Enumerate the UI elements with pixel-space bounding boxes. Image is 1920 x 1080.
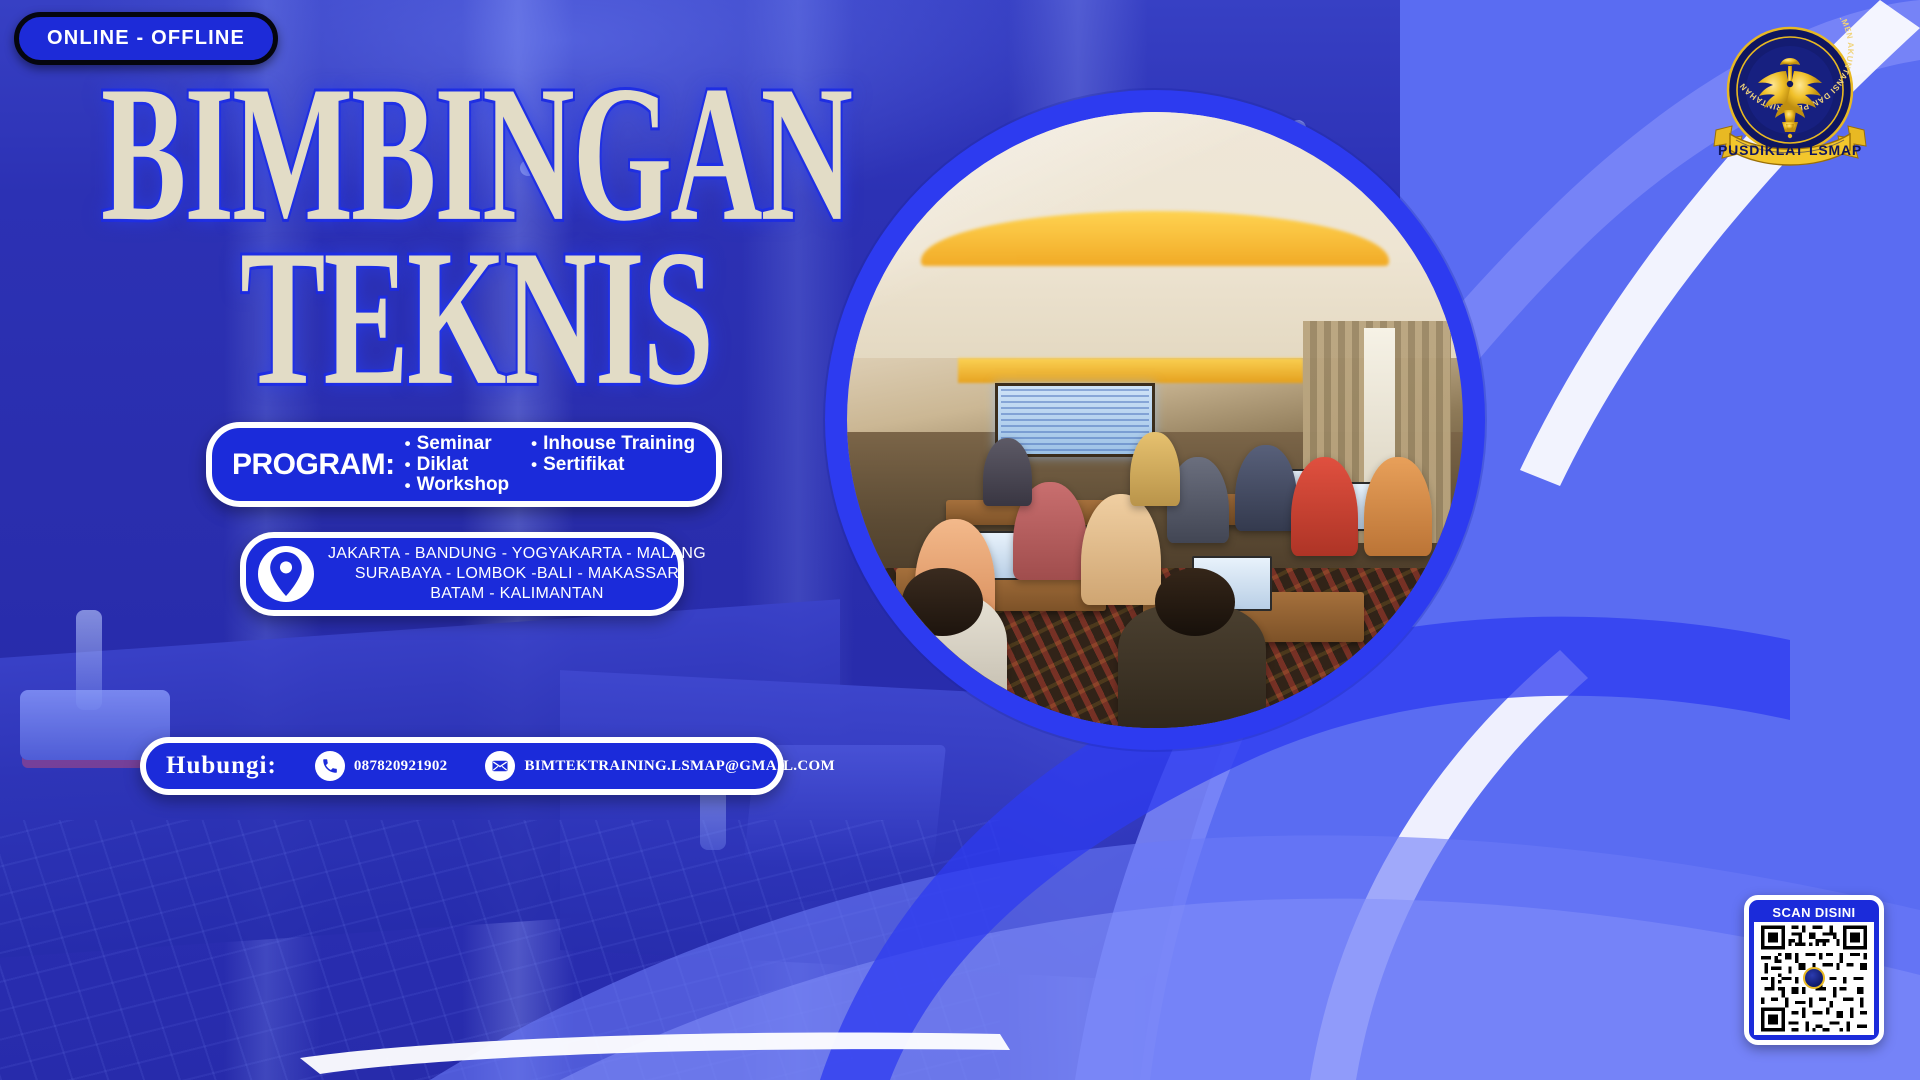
contact-email[interactable]: BIMTEKTRAINING.LSMAP@GMAIL.COM [485,751,834,781]
lsmap-logo: LEMBAGA STUDI MANAJEMEN AKUNTANSI DAN PE… [1700,18,1880,178]
bullet-icon: • [531,456,537,473]
photo-attendee-head [902,568,982,636]
qr-code-image [1754,922,1874,1035]
program-item: • Sertifikat [531,455,695,475]
location-line: SURABAYA - LOMBOK -BALI - MAKASSAR [328,564,706,584]
phone-number: 087820921902 [354,758,448,775]
seminar-room-photo [847,112,1463,728]
title-line-2: TEKNIS [96,240,856,396]
location-line: BATAM - KALIMANTAN [328,584,706,604]
qr-center-logo-badge [1803,967,1825,989]
contact-label: Hubungi: [166,752,277,780]
program-item-label: Inhouse Training [543,434,695,454]
program-item-label: Diklat [417,455,469,475]
program-label: PROGRAM: [232,448,395,482]
bullet-icon: • [531,435,537,452]
envelope-icon [485,751,515,781]
logo-ribbon-text: PUSDIKLAT LSMAP [1718,142,1862,158]
program-item: • Inhouse Training [531,434,695,454]
location-box: JAKARTA - BANDUNG - YOGYAKARTA - MALANG … [240,532,684,616]
circle-photo-frame [825,90,1485,750]
email-address: BIMTEKTRAINING.LSMAP@GMAIL.COM [524,758,834,775]
program-box: PROGRAM: • Seminar • Diklat • Workshop • [206,422,722,507]
phone-icon [315,751,345,781]
program-column-1: • Seminar • Diklat • Workshop [405,434,510,496]
location-line: JAKARTA - BANDUNG - YOGYAKARTA - MALANG [328,544,706,564]
logo-star-icon [1788,134,1792,138]
qr-code-card[interactable]: SCAN DISINI [1744,895,1884,1045]
bullet-icon: • [405,477,411,494]
program-column-2: • Inhouse Training • Sertifikat [531,434,695,496]
photo-attendee [1130,432,1179,506]
title-line-1: BIMBINGAN [96,76,856,232]
program-item: • Seminar [405,434,510,454]
photo-cove-lighting [958,358,1303,383]
photo-attendee-head [1155,568,1235,636]
program-item-label: Sertifikat [543,455,624,475]
contact-box: Hubungi: 087820921902 BIMTEKTRAINING.LSM… [140,737,784,795]
qr-title: SCAN DISINI [1754,904,1874,922]
program-item: • Workshop [405,475,510,495]
program-item: • Diklat [405,455,510,475]
poster-root: ONLINE - OFFLINE BIMBINGAN TEKNIS PROGRA… [0,0,1920,1080]
map-pin-icon [258,546,314,602]
program-item-label: Seminar [417,434,492,454]
bullet-icon: • [405,456,411,473]
logo-emblem-center-dot [1787,81,1793,87]
page-title: BIMBINGAN TEKNIS [96,76,856,343]
program-item-label: Workshop [417,475,510,495]
photo-attendee [983,438,1032,506]
contact-phone[interactable]: 087820921902 [315,751,448,781]
logo-emblem-tail [1786,124,1794,130]
bullet-icon: • [405,435,411,452]
